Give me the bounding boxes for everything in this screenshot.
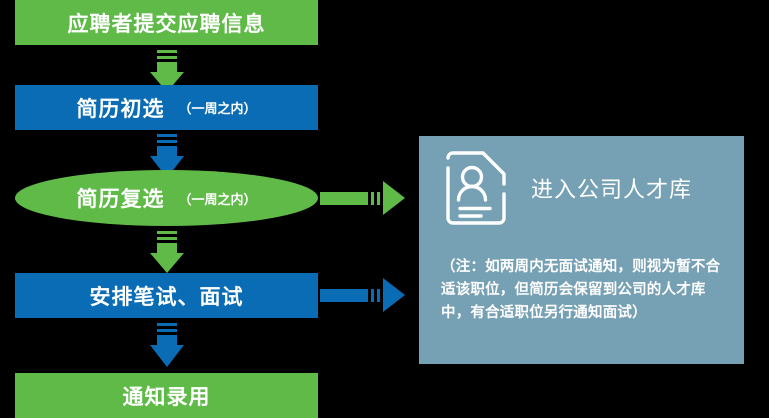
- connector-arrow-right-1: [320, 181, 405, 215]
- arrow-stem: [157, 146, 177, 156]
- arrow-stem: [157, 62, 177, 72]
- flow-node-screen2-label: 简历复选: [76, 183, 164, 213]
- flow-node-exam-label: 安排笔试、面试: [90, 281, 244, 311]
- arrow-bar: [157, 323, 177, 326]
- flow-node-submit[interactable]: 应聘者提交应聘信息: [15, 0, 318, 45]
- arrow-bar: [377, 289, 380, 302]
- flowchart-canvas: 应聘者提交应聘信息 简历初选 （一周之内） 简历复选 （一周之内）: [0, 0, 769, 418]
- resume-person-icon: [445, 150, 507, 226]
- connector-arrow-right-2: [320, 278, 405, 312]
- talent-pool-note: （注：如两周内无面试通知，则视为暂不合适该职位，但简历会保留到公司的人才库中，有…: [441, 256, 725, 325]
- arrow-head: [150, 253, 184, 273]
- arrow-stem: [157, 335, 177, 345]
- connector-arrow-down-4: [147, 323, 187, 367]
- arrow-bar: [371, 289, 374, 302]
- flow-node-screen1-note: （一周之内）: [178, 98, 256, 117]
- flow-node-screen2-note: （一周之内）: [178, 189, 256, 208]
- talent-pool-title: 进入公司人才库: [531, 172, 692, 204]
- arrow-bar: [157, 237, 177, 240]
- arrow-bar: [157, 50, 177, 53]
- arrow-bar: [377, 192, 380, 205]
- connector-arrow-down-3: [147, 231, 187, 273]
- arrow-stem: [320, 192, 368, 205]
- arrow-bar: [157, 134, 177, 137]
- flow-node-screen2[interactable]: 简历复选 （一周之内）: [15, 170, 318, 226]
- flow-node-offer[interactable]: 通知录用: [15, 373, 318, 418]
- arrow-bar: [371, 192, 374, 205]
- arrow-bar: [157, 140, 177, 143]
- arrow-stem: [157, 243, 177, 253]
- arrow-head: [383, 278, 405, 312]
- arrow-bar: [157, 56, 177, 59]
- flow-node-submit-label: 应聘者提交应聘信息: [68, 8, 266, 38]
- flow-node-exam[interactable]: 安排笔试、面试: [15, 273, 318, 318]
- flow-node-offer-label: 通知录用: [123, 381, 211, 411]
- arrow-head: [383, 181, 405, 215]
- flow-node-screen1-label: 简历初选: [76, 93, 164, 123]
- talent-pool-header: 进入公司人才库: [445, 150, 692, 226]
- arrow-bar: [157, 329, 177, 332]
- arrow-head: [150, 345, 184, 367]
- arrow-bar: [157, 231, 177, 234]
- flow-node-screen1[interactable]: 简历初选 （一周之内）: [15, 85, 318, 130]
- talent-pool-panel[interactable]: 进入公司人才库 （注：如两周内无面试通知，则视为暂不合适该职位，但简历会保留到公…: [419, 136, 744, 364]
- arrow-stem: [320, 289, 368, 302]
